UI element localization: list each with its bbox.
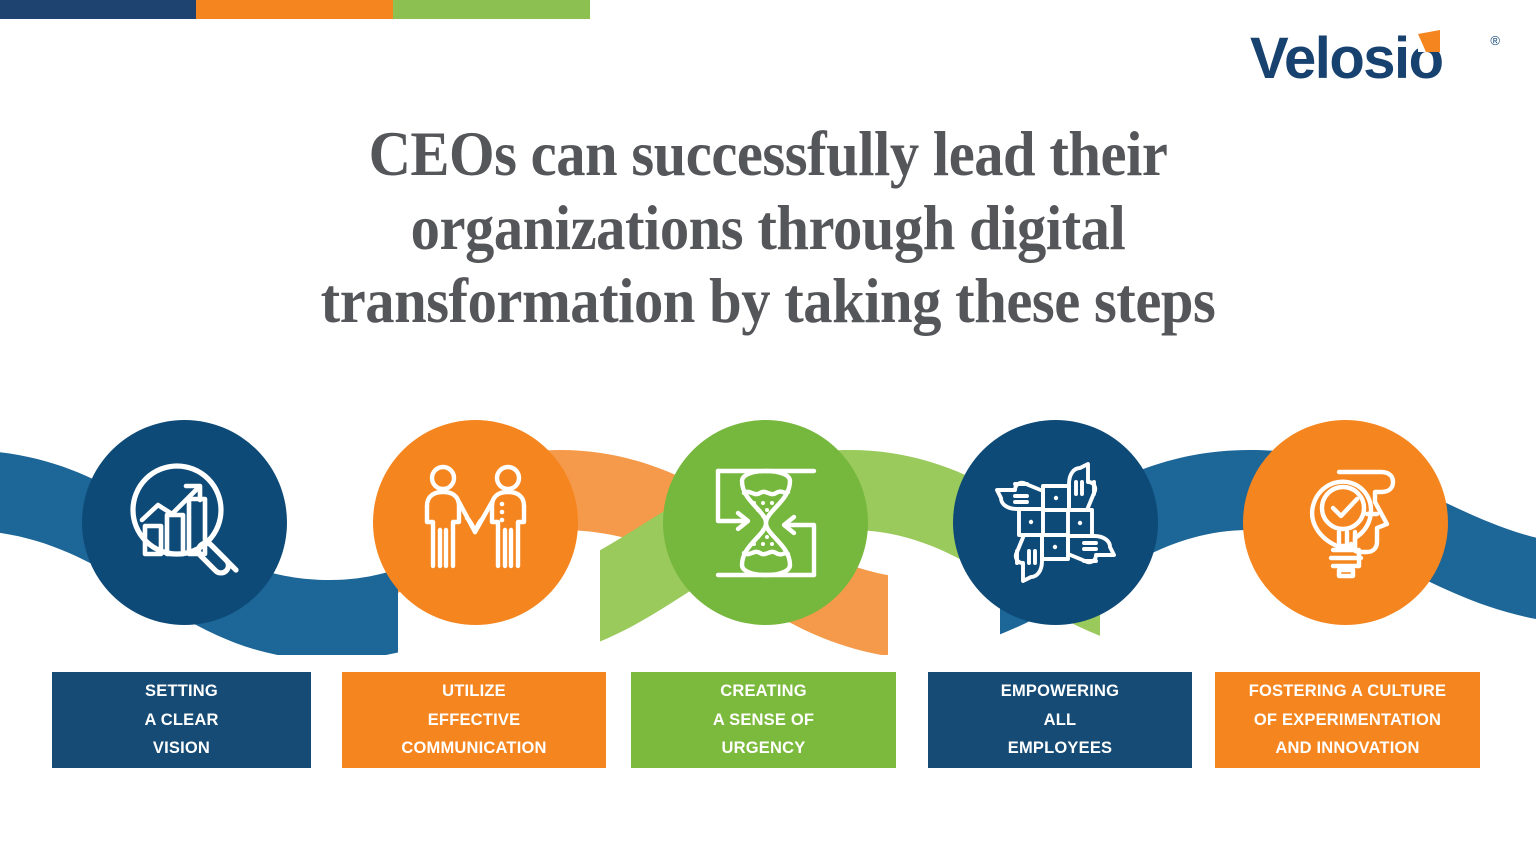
step-label-1-line-3: VISION <box>153 734 210 762</box>
top-bar-segment-green <box>393 0 590 19</box>
step-label-1-line-1: SETTING <box>145 677 218 705</box>
step-label-5-line-2: OF EXPERIMENTATION <box>1254 706 1441 734</box>
infographic-slide: Velosio ® CEOs can successfully lead the… <box>0 0 1536 864</box>
velosio-logo[interactable]: Velosio ® <box>1250 28 1500 90</box>
handshake-people-icon <box>413 460 538 585</box>
step-circles <box>0 355 1536 655</box>
step-label-4[interactable]: EMPOWERING ALL EMPLOYEES <box>928 672 1192 768</box>
step-circle-4[interactable] <box>953 420 1158 625</box>
headline-line-3: transformation by taking these steps <box>54 265 1482 339</box>
step-label-1[interactable]: SETTING A CLEAR VISION <box>52 672 311 768</box>
registered-trademark-symbol: ® <box>1490 34 1500 47</box>
step-label-3-line-3: URGENCY <box>722 734 806 762</box>
top-bar-segment-orange <box>196 0 393 19</box>
step-circle-2[interactable] <box>373 420 578 625</box>
top-bar-segment-navy <box>0 0 196 19</box>
step-labels: SETTING A CLEAR VISION UTILIZE EFFECTIVE… <box>0 672 1536 772</box>
step-label-1-line-2: A CLEAR <box>144 706 218 734</box>
step-label-2-line-3: COMMUNICATION <box>401 734 546 762</box>
page-title: CEOs can successfully lead their organiz… <box>54 118 1482 339</box>
step-label-3[interactable]: CREATING A SENSE OF URGENCY <box>631 672 896 768</box>
step-circle-3[interactable] <box>663 420 868 625</box>
magnifying-glass-bar-chart-icon <box>120 458 250 588</box>
four-hands-teamwork-icon <box>993 460 1118 585</box>
step-label-2[interactable]: UTILIZE EFFECTIVE COMMUNICATION <box>342 672 606 768</box>
top-color-bar <box>0 0 1536 19</box>
lightbulb-check-head-icon <box>1281 458 1411 588</box>
step-label-5[interactable]: FOSTERING A CULTURE OF EXPERIMENTATION A… <box>1215 672 1480 768</box>
step-label-3-line-2: A SENSE OF <box>713 706 814 734</box>
svg-text:Velosio: Velosio <box>1250 28 1443 90</box>
step-circle-5[interactable] <box>1243 420 1448 625</box>
step-label-5-line-3: AND INNOVATION <box>1275 734 1419 762</box>
step-label-2-line-2: EFFECTIVE <box>428 706 521 734</box>
step-circle-1[interactable] <box>82 420 287 625</box>
step-label-4-line-3: EMPLOYEES <box>1008 734 1113 762</box>
step-label-3-line-1: CREATING <box>720 677 807 705</box>
headline-line-1: CEOs can successfully lead their <box>54 118 1482 192</box>
velosio-wordmark-icon: Velosio <box>1250 28 1488 90</box>
headline-line-2: organizations through digital <box>54 192 1482 266</box>
step-label-4-line-2: ALL <box>1044 706 1077 734</box>
step-label-2-line-1: UTILIZE <box>442 677 506 705</box>
hourglass-urgency-icon <box>702 459 830 587</box>
step-label-4-line-1: EMPOWERING <box>1001 677 1119 705</box>
step-label-5-line-1: FOSTERING A CULTURE <box>1249 677 1447 705</box>
